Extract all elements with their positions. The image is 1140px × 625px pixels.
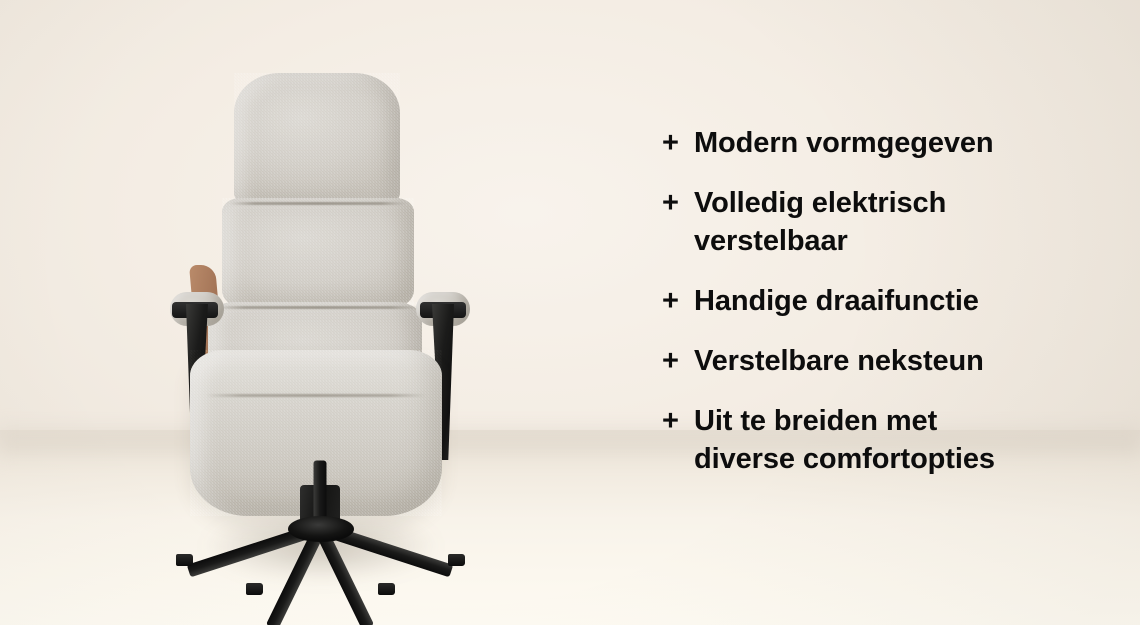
feature-item: +Verstelbare neksteun (662, 342, 1062, 380)
recliner-chair-image (150, 30, 490, 590)
chair-backrest-middle (222, 198, 414, 308)
backrest-seam (216, 306, 420, 309)
feature-label: Handige draaifunctie (694, 282, 979, 320)
feature-label: Verstelbare neksteun (694, 342, 984, 380)
swivel-base-hub (288, 516, 354, 542)
plus-icon: + (662, 402, 694, 440)
feature-item: +Handige draaifunctie (662, 282, 1062, 320)
feature-list: +Modern vormgegeven+Volledig elektrisch … (662, 124, 1062, 478)
chair-headrest (234, 73, 400, 205)
feature-item: +Uit te breiden met diverse comfortoptie… (662, 402, 1062, 478)
feature-item: +Modern vormgegeven (662, 124, 1062, 162)
fabric-weave-texture (222, 198, 414, 308)
base-foot (448, 554, 465, 566)
product-feature-banner: +Modern vormgegeven+Volledig elektrisch … (0, 0, 1140, 625)
feature-label: Uit te breiden met diverse comfortopties (694, 402, 995, 478)
plus-icon: + (662, 124, 694, 162)
feature-label: Volledig elektrisch verstelbaar (694, 184, 946, 260)
plus-icon: + (662, 184, 694, 222)
fabric-weave-texture (234, 73, 400, 205)
base-foot (176, 554, 193, 566)
seat-seam (206, 394, 426, 397)
feature-item: +Volledig elektrisch verstelbaar (662, 184, 1062, 260)
base-foot (378, 583, 395, 595)
base-foot (246, 583, 263, 595)
headrest-seam (230, 202, 406, 205)
plus-icon: + (662, 342, 694, 380)
plus-icon: + (662, 282, 694, 320)
feature-label: Modern vormgegeven (694, 124, 994, 162)
